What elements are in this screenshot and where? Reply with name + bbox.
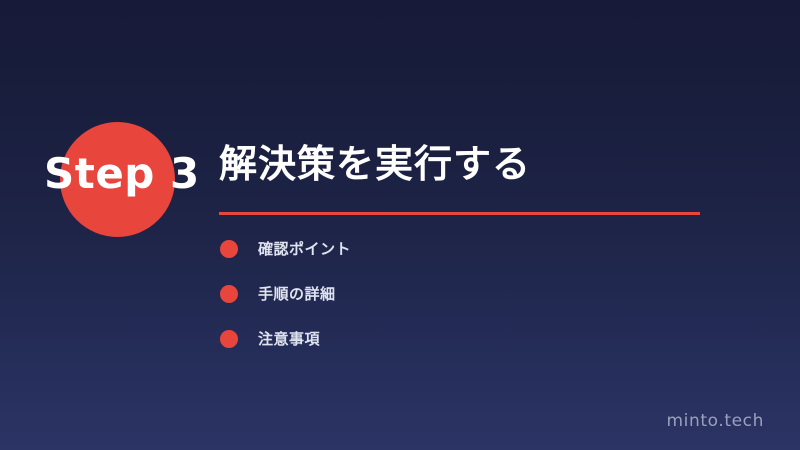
list-item: 手順の詳細 (220, 284, 700, 304)
bullet-list: 確認ポイント 手順の詳細 注意事項 (220, 239, 700, 374)
list-item: 注意事項 (220, 329, 700, 349)
list-item: 確認ポイント (220, 239, 700, 259)
slide-title: 解決策を実行する (219, 138, 759, 190)
step-badge: Step 3 (0, 0, 220, 260)
list-item-label: 手順の詳細 (258, 284, 336, 304)
bullet-dot-icon (220, 285, 238, 303)
bullet-dot-icon (220, 330, 238, 348)
step-label: Step 3 (44, 149, 224, 199)
title-block: 解決策を実行する (219, 138, 759, 215)
list-item-label: 確認ポイント (258, 239, 351, 259)
title-divider (219, 212, 700, 215)
footer-brand: minto.tech (667, 410, 764, 432)
slide-canvas: Step 3 解決策を実行する 確認ポイント 手順の詳細 注意事項 minto.… (0, 0, 800, 450)
bullet-dot-icon (220, 240, 238, 258)
list-item-label: 注意事項 (258, 329, 320, 349)
